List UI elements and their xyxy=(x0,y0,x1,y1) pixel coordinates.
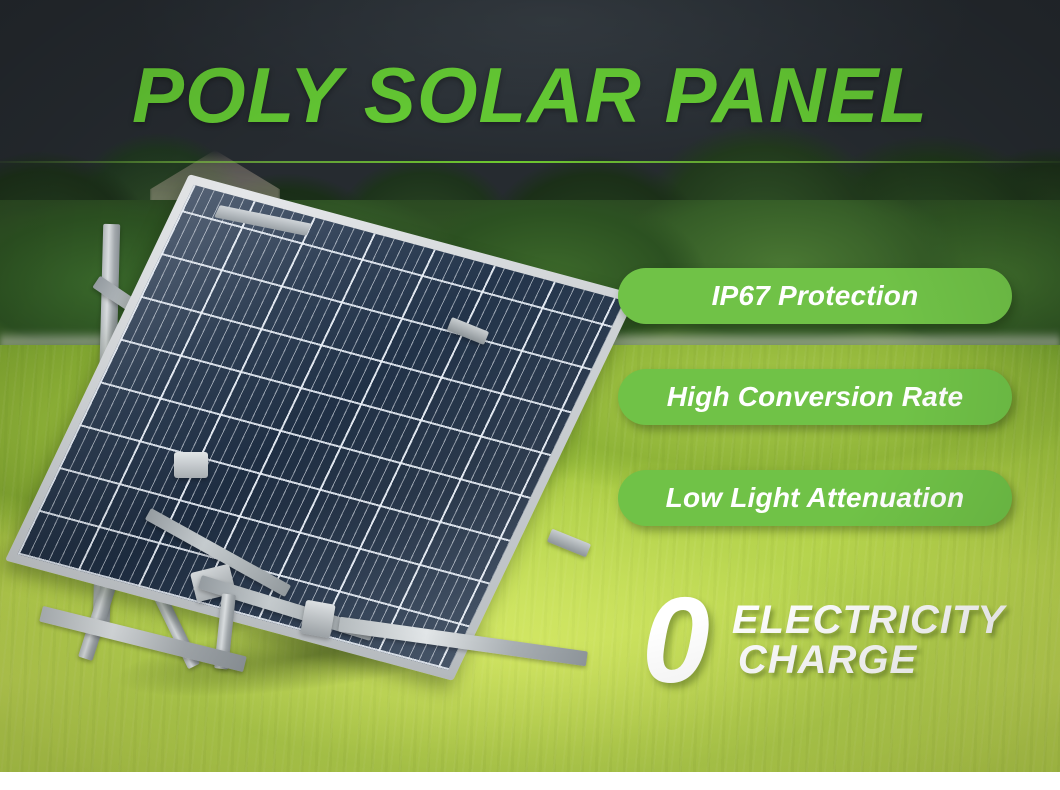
feature-pill-conversion-rate[interactable]: High Conversion Rate xyxy=(618,369,1012,425)
mount-bracket-upper xyxy=(174,452,208,478)
bottom-margin xyxy=(0,772,1060,790)
feature-pill-ip67[interactable]: IP67 Protection xyxy=(618,268,1012,324)
title-divider xyxy=(0,161,1060,163)
zero-charge-line-2: CHARGE xyxy=(732,640,917,680)
zero-charge-text: ELECTRICITY CHARGE xyxy=(732,600,1005,680)
solar-panel-image xyxy=(28,216,608,716)
feature-pill-light-attenuation[interactable]: Low Light Attenuation xyxy=(618,470,1012,526)
feature-pill-label: Low Light Attenuation xyxy=(666,482,965,514)
page-title: POLY SOLAR PANEL xyxy=(0,56,1060,134)
mount-bracket-lower xyxy=(300,600,335,639)
promo-banner: POLY SOLAR PANEL IP67 Protection High Co… xyxy=(0,0,1060,772)
panel-clamp-bottom xyxy=(547,529,591,558)
zero-electricity-charge: 0 ELECTRICITY CHARGE xyxy=(636,585,1016,695)
zero-charge-line-1: ELECTRICITY xyxy=(732,600,1005,640)
feature-pill-label: High Conversion Rate xyxy=(667,381,963,413)
zero-digit: 0 xyxy=(636,590,710,690)
feature-pill-label: IP67 Protection xyxy=(712,280,919,312)
